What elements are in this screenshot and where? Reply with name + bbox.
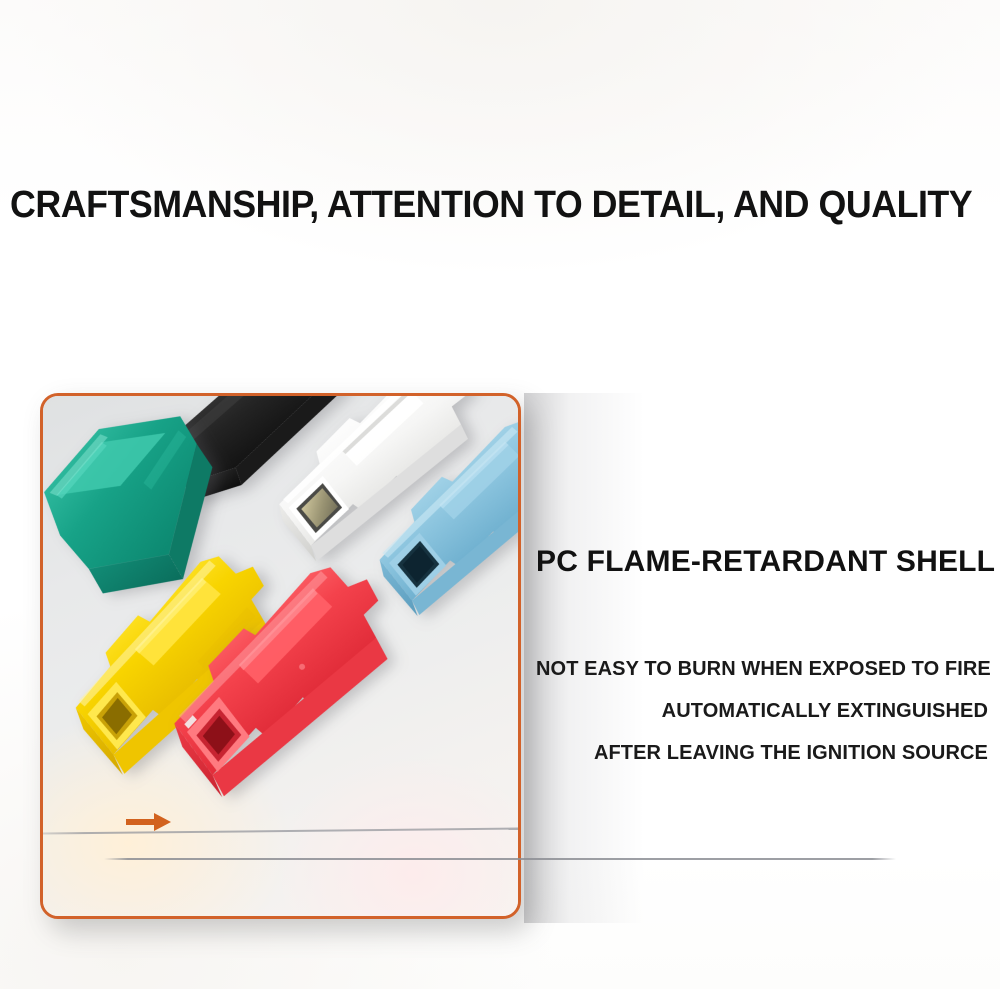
feature-line-3: AFTER LEAVING THE IGNITION SOURCE (536, 732, 988, 774)
feature-title: PC FLAME-RETARDANT SHELL (536, 545, 996, 579)
product-photo-panel (40, 393, 521, 919)
arrow-right-icon (126, 810, 172, 834)
feature-line-1: NOT EASY TO BURN WHEN EXPOSED TO FIRE (536, 648, 988, 690)
feature-line-2: AUTOMATICALLY EXTINGUISHED (536, 690, 988, 732)
callout-divider (104, 858, 896, 860)
feature-description: NOT EASY TO BURN WHEN EXPOSED TO FIRE AU… (536, 648, 988, 774)
page-title: CRAFTSMANSHIP, ATTENTION TO DETAIL, AND … (10, 186, 923, 226)
